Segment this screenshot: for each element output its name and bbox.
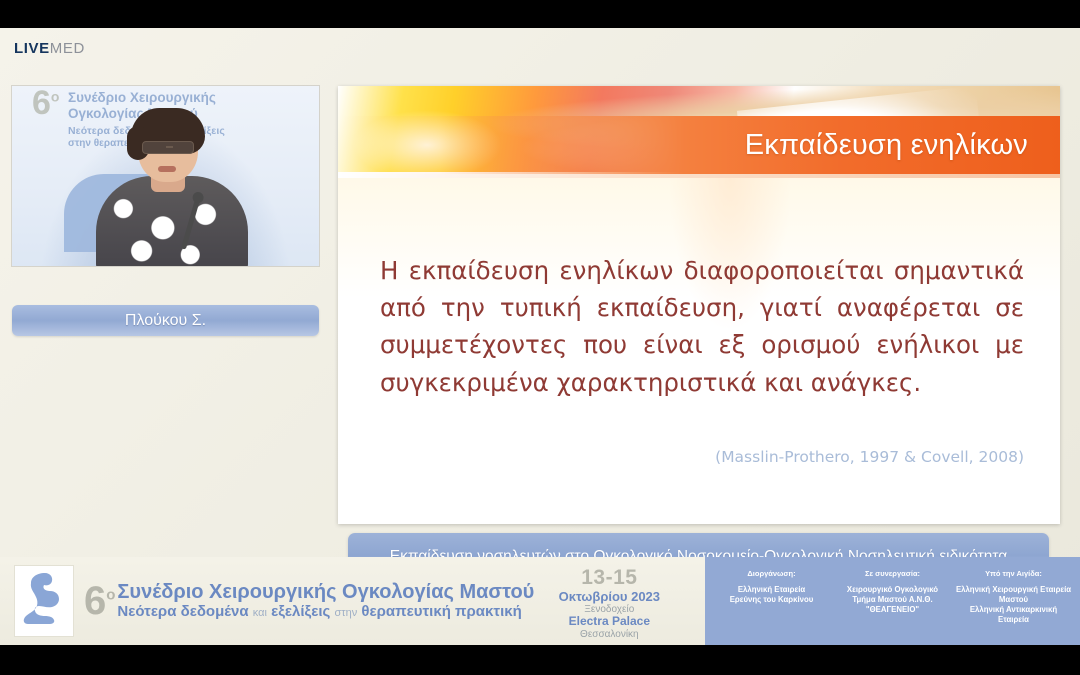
sponsor-line2: Ερεύνης του Καρκίνου xyxy=(713,595,830,605)
glasses-icon xyxy=(142,141,194,154)
livemed-logo[interactable]: LIVEMED xyxy=(14,41,85,56)
banner-sponsors: Διοργάνωση: Ελληνική Εταιρεία Ερεύνης το… xyxy=(705,557,1080,645)
sponsor-line1: Χειρουργικό Ογκολογικό xyxy=(834,585,951,595)
conference-name: 6ο Συνέδριο Χειρουργικής Ογκολογίας Μαστ… xyxy=(84,581,534,620)
conference-title: Συνέδριο Χειρουργικής Ογκολογίας Μαστού xyxy=(117,581,534,603)
sponsor-column-auspices: Υπό την Αιγίδα: Ελληνική Χειρουργική Ετα… xyxy=(955,569,1072,624)
conference-subtitle-b: εξελίξεις xyxy=(271,603,330,620)
sponsor-line2: Τμήμα Μαστού Α.Ν.Θ. "ΘΕΑΓΕΝΕΙΟ" xyxy=(834,595,951,614)
conference-date-venue: 13-15 Οκτωβρίου 2023 Ξενοδοχείο Electra … xyxy=(534,562,684,640)
slide-title-bar: Εκπαίδευση ενηλίκων xyxy=(338,116,1060,174)
conference-subtitle-in: στην xyxy=(334,607,357,619)
conference-subtitle-and: και xyxy=(253,607,267,619)
presentation-page: LIVEMED 6ο Συνέδριο Χειρουργικής Ογκολογ… xyxy=(0,28,1080,645)
video-backdrop-line1: Συνέδριο Χειρουργικής xyxy=(34,90,313,106)
conference-days: 13-15 xyxy=(534,566,684,590)
slide-body-text: Η εκπαίδευση ενηλίκων διαφοροποιείται ση… xyxy=(380,252,1024,401)
conference-subtitle-c: θεραπευτική πρακτική xyxy=(361,603,521,620)
sponsor-line2: Ελληνική Αντικαρκινική Εταιρεία xyxy=(955,605,1072,624)
conference-month-year: Οκτωβρίου 2023 xyxy=(534,590,684,605)
speaker-name-label: Πλούκου Σ. xyxy=(12,305,319,336)
speaker-name-text: Πλούκου Σ. xyxy=(125,312,206,330)
venue-city: Θεσσαλονίκη xyxy=(534,629,684,640)
conference-subtitle: Νεότερα δεδομένα και εξελίξεις στην θερα… xyxy=(117,604,534,621)
slide-citation: (Masslin-Prothero, 1997 & Covell, 2008) xyxy=(715,448,1024,466)
livemed-logo-med: MED xyxy=(50,40,85,57)
sponsor-line1: Ελληνική Χειρουργική Εταιρεία Μαστού xyxy=(955,585,1072,604)
slide-view[interactable]: Εκπαίδευση ενηλίκων Η εκπαίδευση ενηλίκω… xyxy=(338,86,1060,524)
sponsor-heading: Υπό την Αιγίδα: xyxy=(955,569,1072,578)
matisse-blue-nude-icon xyxy=(21,570,67,632)
speaker-video[interactable]: 6ο Συνέδριο Χειρουργικής Ογκολογίας Μαστ… xyxy=(12,86,319,266)
livemed-logo-live: LIVE xyxy=(14,40,50,57)
conference-logo xyxy=(14,565,74,637)
letterbox-bottom xyxy=(0,645,1080,675)
conference-banner: 6ο Συνέδριο Χειρουργικής Ογκολογίας Μαστ… xyxy=(0,557,1080,645)
sponsor-column-organizer: Διοργάνωση: Ελληνική Εταιρεία Ερεύνης το… xyxy=(713,569,830,605)
venue-name: Electra Palace xyxy=(534,615,684,628)
letterbox-top xyxy=(0,0,1080,28)
banner-left: 6ο Συνέδριο Χειρουργικής Ογκολογίας Μαστ… xyxy=(0,557,705,645)
screenshot-stage: LIVEMED 6ο Συνέδριο Χειρουργικής Ογκολογ… xyxy=(0,0,1080,675)
sponsor-heading: Σε συνεργασία: xyxy=(834,569,951,578)
slide-title: Εκπαίδευση ενηλίκων xyxy=(745,129,1060,162)
sponsor-heading: Διοργάνωση: xyxy=(713,569,830,578)
conference-ordinal: 6ο xyxy=(84,583,115,620)
speaker-mouth xyxy=(158,166,176,172)
conference-subtitle-a: Νεότερα δεδομένα xyxy=(117,603,248,620)
sponsor-line1: Ελληνική Εταιρεία xyxy=(713,585,830,595)
sponsor-column-cooperation: Σε συνεργασία: Χειρουργικό Ογκολογικό Τμ… xyxy=(834,569,951,615)
